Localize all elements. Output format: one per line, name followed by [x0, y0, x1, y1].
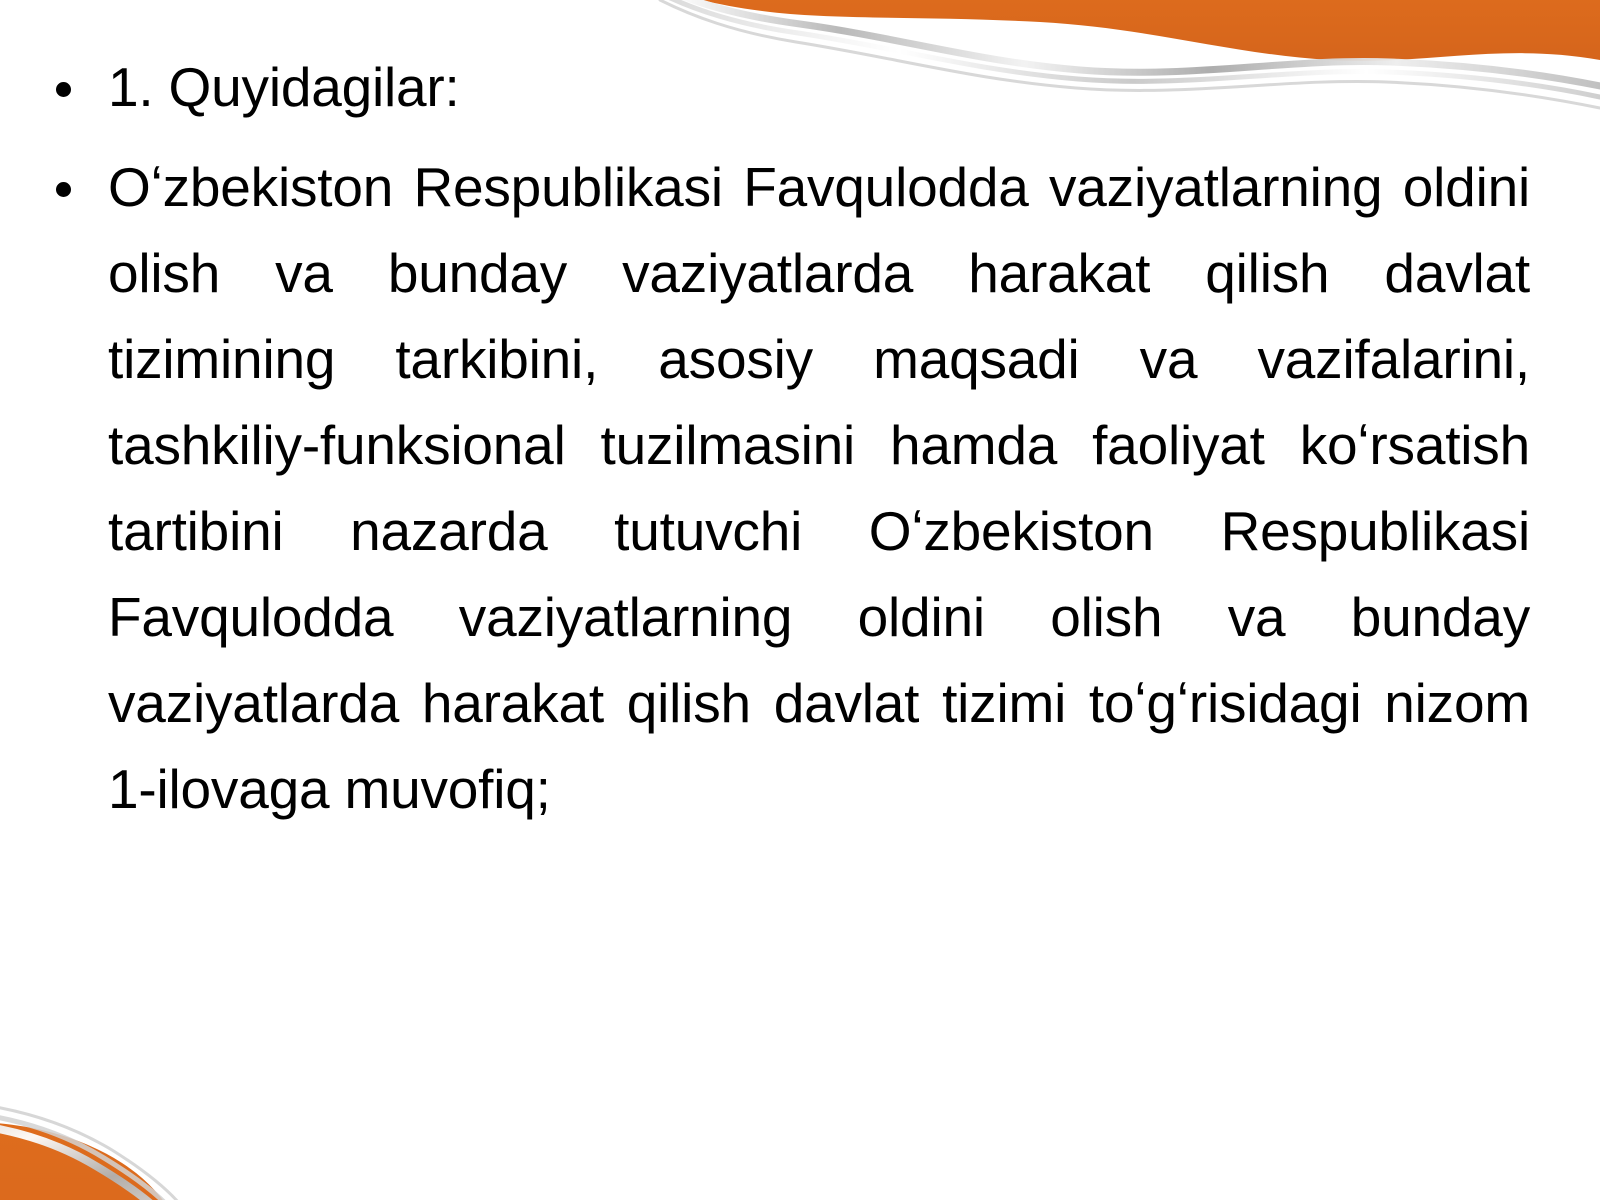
bullet-text-paragraph: Oʻzbekiston Respublikasi Favqulodda vazi… [108, 144, 1530, 832]
bullet-list: 1. Quyidagilar: Oʻzbekiston Respublikasi… [30, 44, 1530, 832]
bullet-item-heading: 1. Quyidagilar: [30, 44, 1530, 130]
bottom-left-orange-ellipse [0, 1100, 196, 1200]
slide-body: 1. Quyidagilar: Oʻzbekiston Respublikasi… [30, 44, 1530, 832]
bullet-text-heading: 1. Quyidagilar: [108, 44, 1530, 130]
slide: 1. Quyidagilar: Oʻzbekiston Respublikasi… [0, 0, 1600, 1200]
bullet-item-paragraph: Oʻzbekiston Respublikasi Favqulodda vazi… [30, 144, 1530, 832]
